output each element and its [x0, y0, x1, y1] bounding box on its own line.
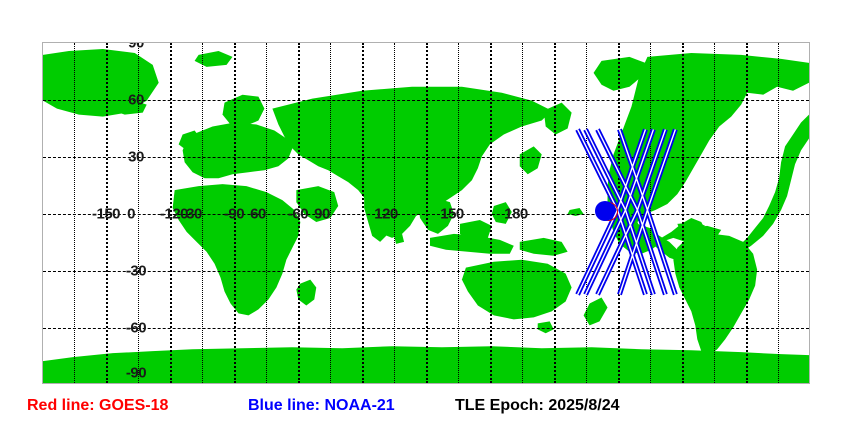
legend-blue-line: Blue line: NOAA-21	[248, 397, 395, 415]
lon-tick-150: 150	[440, 206, 464, 223]
lon-tick-60: 60	[250, 206, 266, 223]
lon-tick-minus120: -120	[160, 206, 188, 223]
lon-tick-minus90: -90	[224, 206, 244, 223]
lon-tick-zero: 0	[127, 206, 135, 223]
noaa21-ground-track-layer	[43, 43, 809, 383]
lat-tick-60: 60	[128, 92, 144, 109]
world-map-plot: -150 -120 -90 -60 -30 30 60 90 120 150 1…	[42, 42, 810, 384]
lat-tick-minus90: -90	[126, 365, 146, 382]
legend-tle-epoch: TLE Epoch: 2025/8/24	[455, 397, 620, 415]
lon-tick-120: 120	[374, 206, 398, 223]
lat-tick-minus60: -60	[126, 320, 146, 337]
lon-tick-180: 180	[504, 206, 528, 223]
legend-bar: Red line: GOES-18 Blue line: NOAA-21 TLE…	[0, 392, 850, 425]
lat-tick-30: 30	[128, 149, 144, 166]
lat-tick-minus30: -30	[126, 263, 146, 280]
lon-tick-90: 90	[314, 206, 330, 223]
lon-tick-minus60: -60	[288, 206, 308, 223]
lon-tick-30: 30	[186, 206, 202, 223]
lat-tick-90: 90	[128, 42, 144, 52]
legend-red-line: Red line: GOES-18	[27, 397, 168, 415]
noaa21-position-marker	[595, 201, 615, 221]
lon-tick-minus150: -150	[92, 206, 120, 223]
